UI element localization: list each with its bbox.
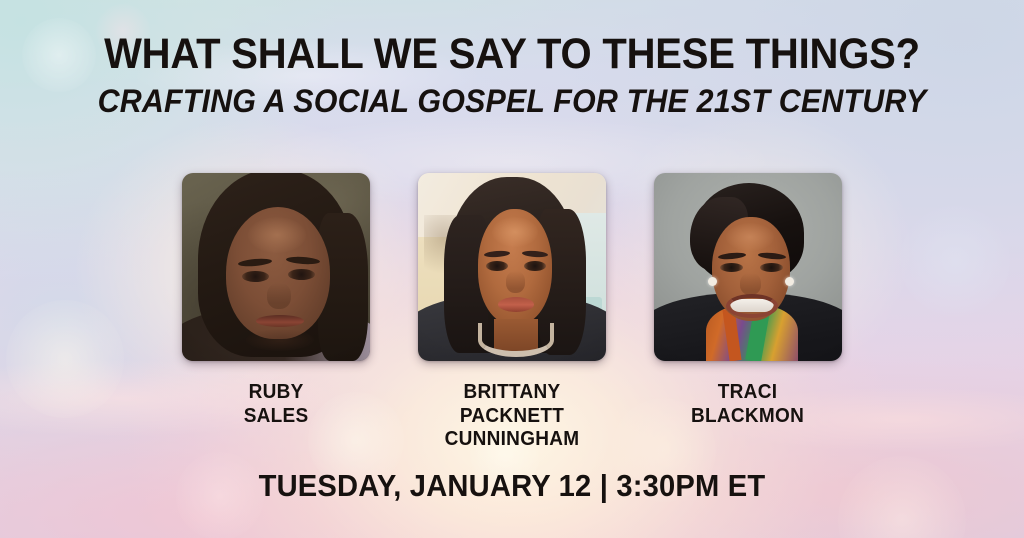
portrait-vignette <box>182 173 370 361</box>
speaker-portrait-brittany-packnett-cunningham <box>418 173 606 361</box>
event-poster: WHAT SHALL WE SAY TO THESE THINGS? CRAFT… <box>0 0 1024 538</box>
speaker-card: BRITTANY PACKNETT CUNNINGHAM <box>418 173 606 452</box>
speaker-row: RUBY SALES <box>0 173 1024 452</box>
speaker-portrait-ruby-sales <box>182 173 370 361</box>
page-subtitle: CRAFTING A SOCIAL GOSPEL FOR THE 21ST CE… <box>26 85 999 117</box>
speaker-card: RUBY SALES <box>182 173 370 428</box>
event-datetime: TUESDAY, JANUARY 12 | 3:30PM ET <box>31 468 994 504</box>
speaker-portrait-traci-blackmon <box>654 173 842 361</box>
portrait-vignette <box>418 173 606 361</box>
speaker-card: TRACI BLACKMON <box>654 173 842 428</box>
speaker-name: TRACI BLACKMON <box>691 381 804 428</box>
headline-block: WHAT SHALL WE SAY TO THESE THINGS? CRAFT… <box>0 33 1024 117</box>
page-title: WHAT SHALL WE SAY TO THESE THINGS? <box>36 33 988 76</box>
speaker-name: RUBY SALES <box>244 381 309 428</box>
portrait-vignette <box>654 173 842 361</box>
speaker-name: BRITTANY PACKNETT CUNNINGHAM <box>423 381 602 452</box>
